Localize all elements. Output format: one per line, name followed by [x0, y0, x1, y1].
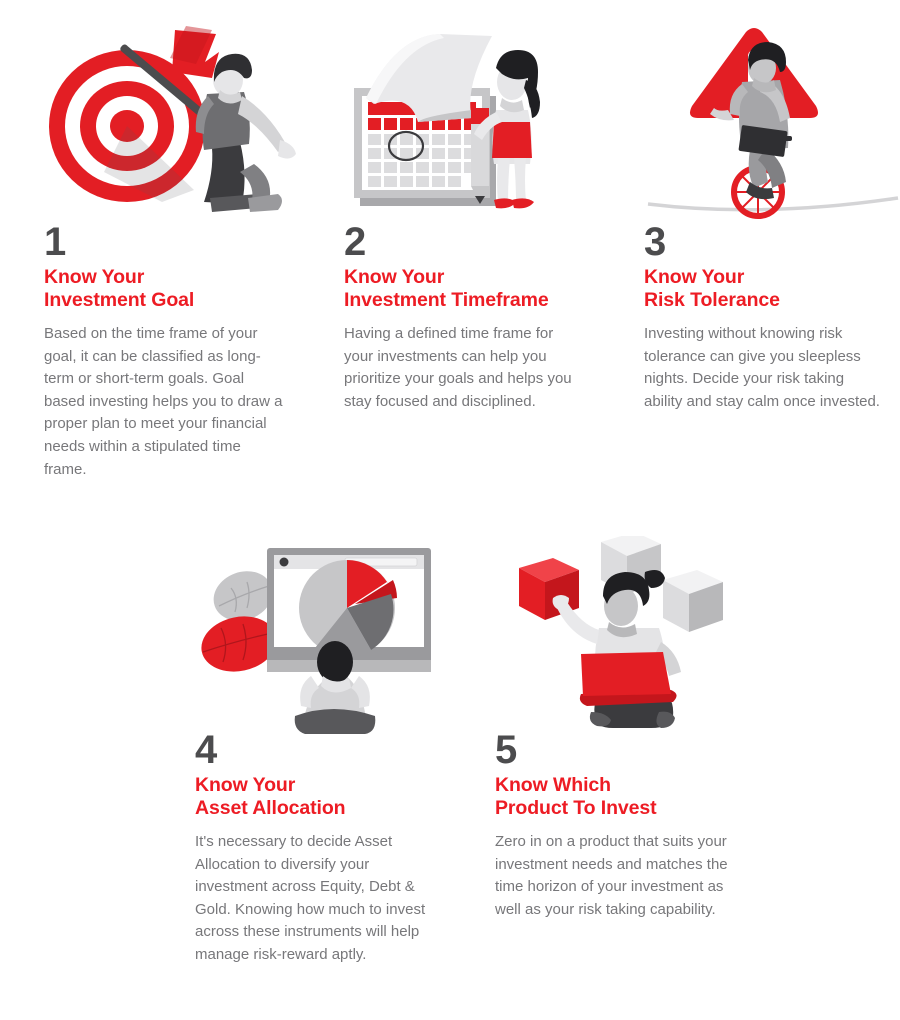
- step-heading-3-line2: Risk Tolerance: [644, 289, 900, 312]
- gray-cube-right: [663, 570, 723, 632]
- step-heading-4: Know Your Asset Allocation: [195, 774, 457, 820]
- calendar-woman-pencil-illustration: [344, 22, 606, 222]
- step-heading-5-line1: Know Which: [495, 774, 611, 796]
- step-number-5: 5: [495, 730, 757, 770]
- step-heading-3: Know Your Risk Tolerance: [644, 266, 900, 312]
- step-card-5: 5 Know Which Product To Invest Zero in o…: [495, 730, 757, 921]
- warning-triangle-unicycle-tightrope-illustration: [644, 22, 900, 222]
- step-body-3: Investing without knowing risk tolerance…: [644, 323, 884, 413]
- step-number-2: 2: [344, 222, 606, 262]
- step-number-1: 1: [44, 222, 306, 262]
- step-heading-4-line1: Know Your: [195, 774, 295, 796]
- step-card-1: 1 Know Your Investment Goal Based on the…: [44, 222, 306, 481]
- arrow-flight-fletching: [170, 26, 219, 78]
- step-body-1: Based on the time frame of your goal, it…: [44, 323, 284, 481]
- step-card-3: 3 Know Your Risk Tolerance Investing wit…: [644, 222, 900, 413]
- step-heading-5: Know Which Product To Invest: [495, 774, 757, 820]
- monitor-pie-chart-viewer-illustration: [195, 536, 457, 736]
- step-heading-2-line2: Investment Timeframe: [344, 289, 606, 312]
- target-arrow-kneeling-person-illustration: [44, 22, 306, 222]
- step-card-2: 2 Know Your Investment Timeframe Having …: [344, 222, 606, 413]
- step-heading-1-line2: Investment Goal: [44, 289, 306, 312]
- step-number-3: 3: [644, 222, 900, 262]
- step-heading-1-line1: Know Your: [44, 266, 144, 288]
- step-heading-5-line2: Product To Invest: [495, 797, 757, 820]
- person-laptop-floating-cubes-illustration: [495, 536, 757, 736]
- step-body-5: Zero in on a product that suits your inv…: [495, 831, 735, 921]
- step-card-4: 4 Know Your Asset Allocation It's necess…: [195, 730, 457, 967]
- infographic-board: 1 Know Your Investment Goal Based on the…: [0, 0, 900, 1020]
- step-body-2: Having a defined time frame for your inv…: [344, 323, 584, 413]
- step-number-4: 4: [195, 730, 457, 770]
- step-heading-2-line1: Know Your: [344, 266, 444, 288]
- step-heading-2: Know Your Investment Timeframe: [344, 266, 606, 312]
- step-heading-3-line1: Know Your: [644, 266, 744, 288]
- step-body-4: It's necessary to decide Asset Allocatio…: [195, 831, 435, 967]
- step-heading-4-line2: Asset Allocation: [195, 797, 457, 820]
- step-heading-1: Know Your Investment Goal: [44, 266, 306, 312]
